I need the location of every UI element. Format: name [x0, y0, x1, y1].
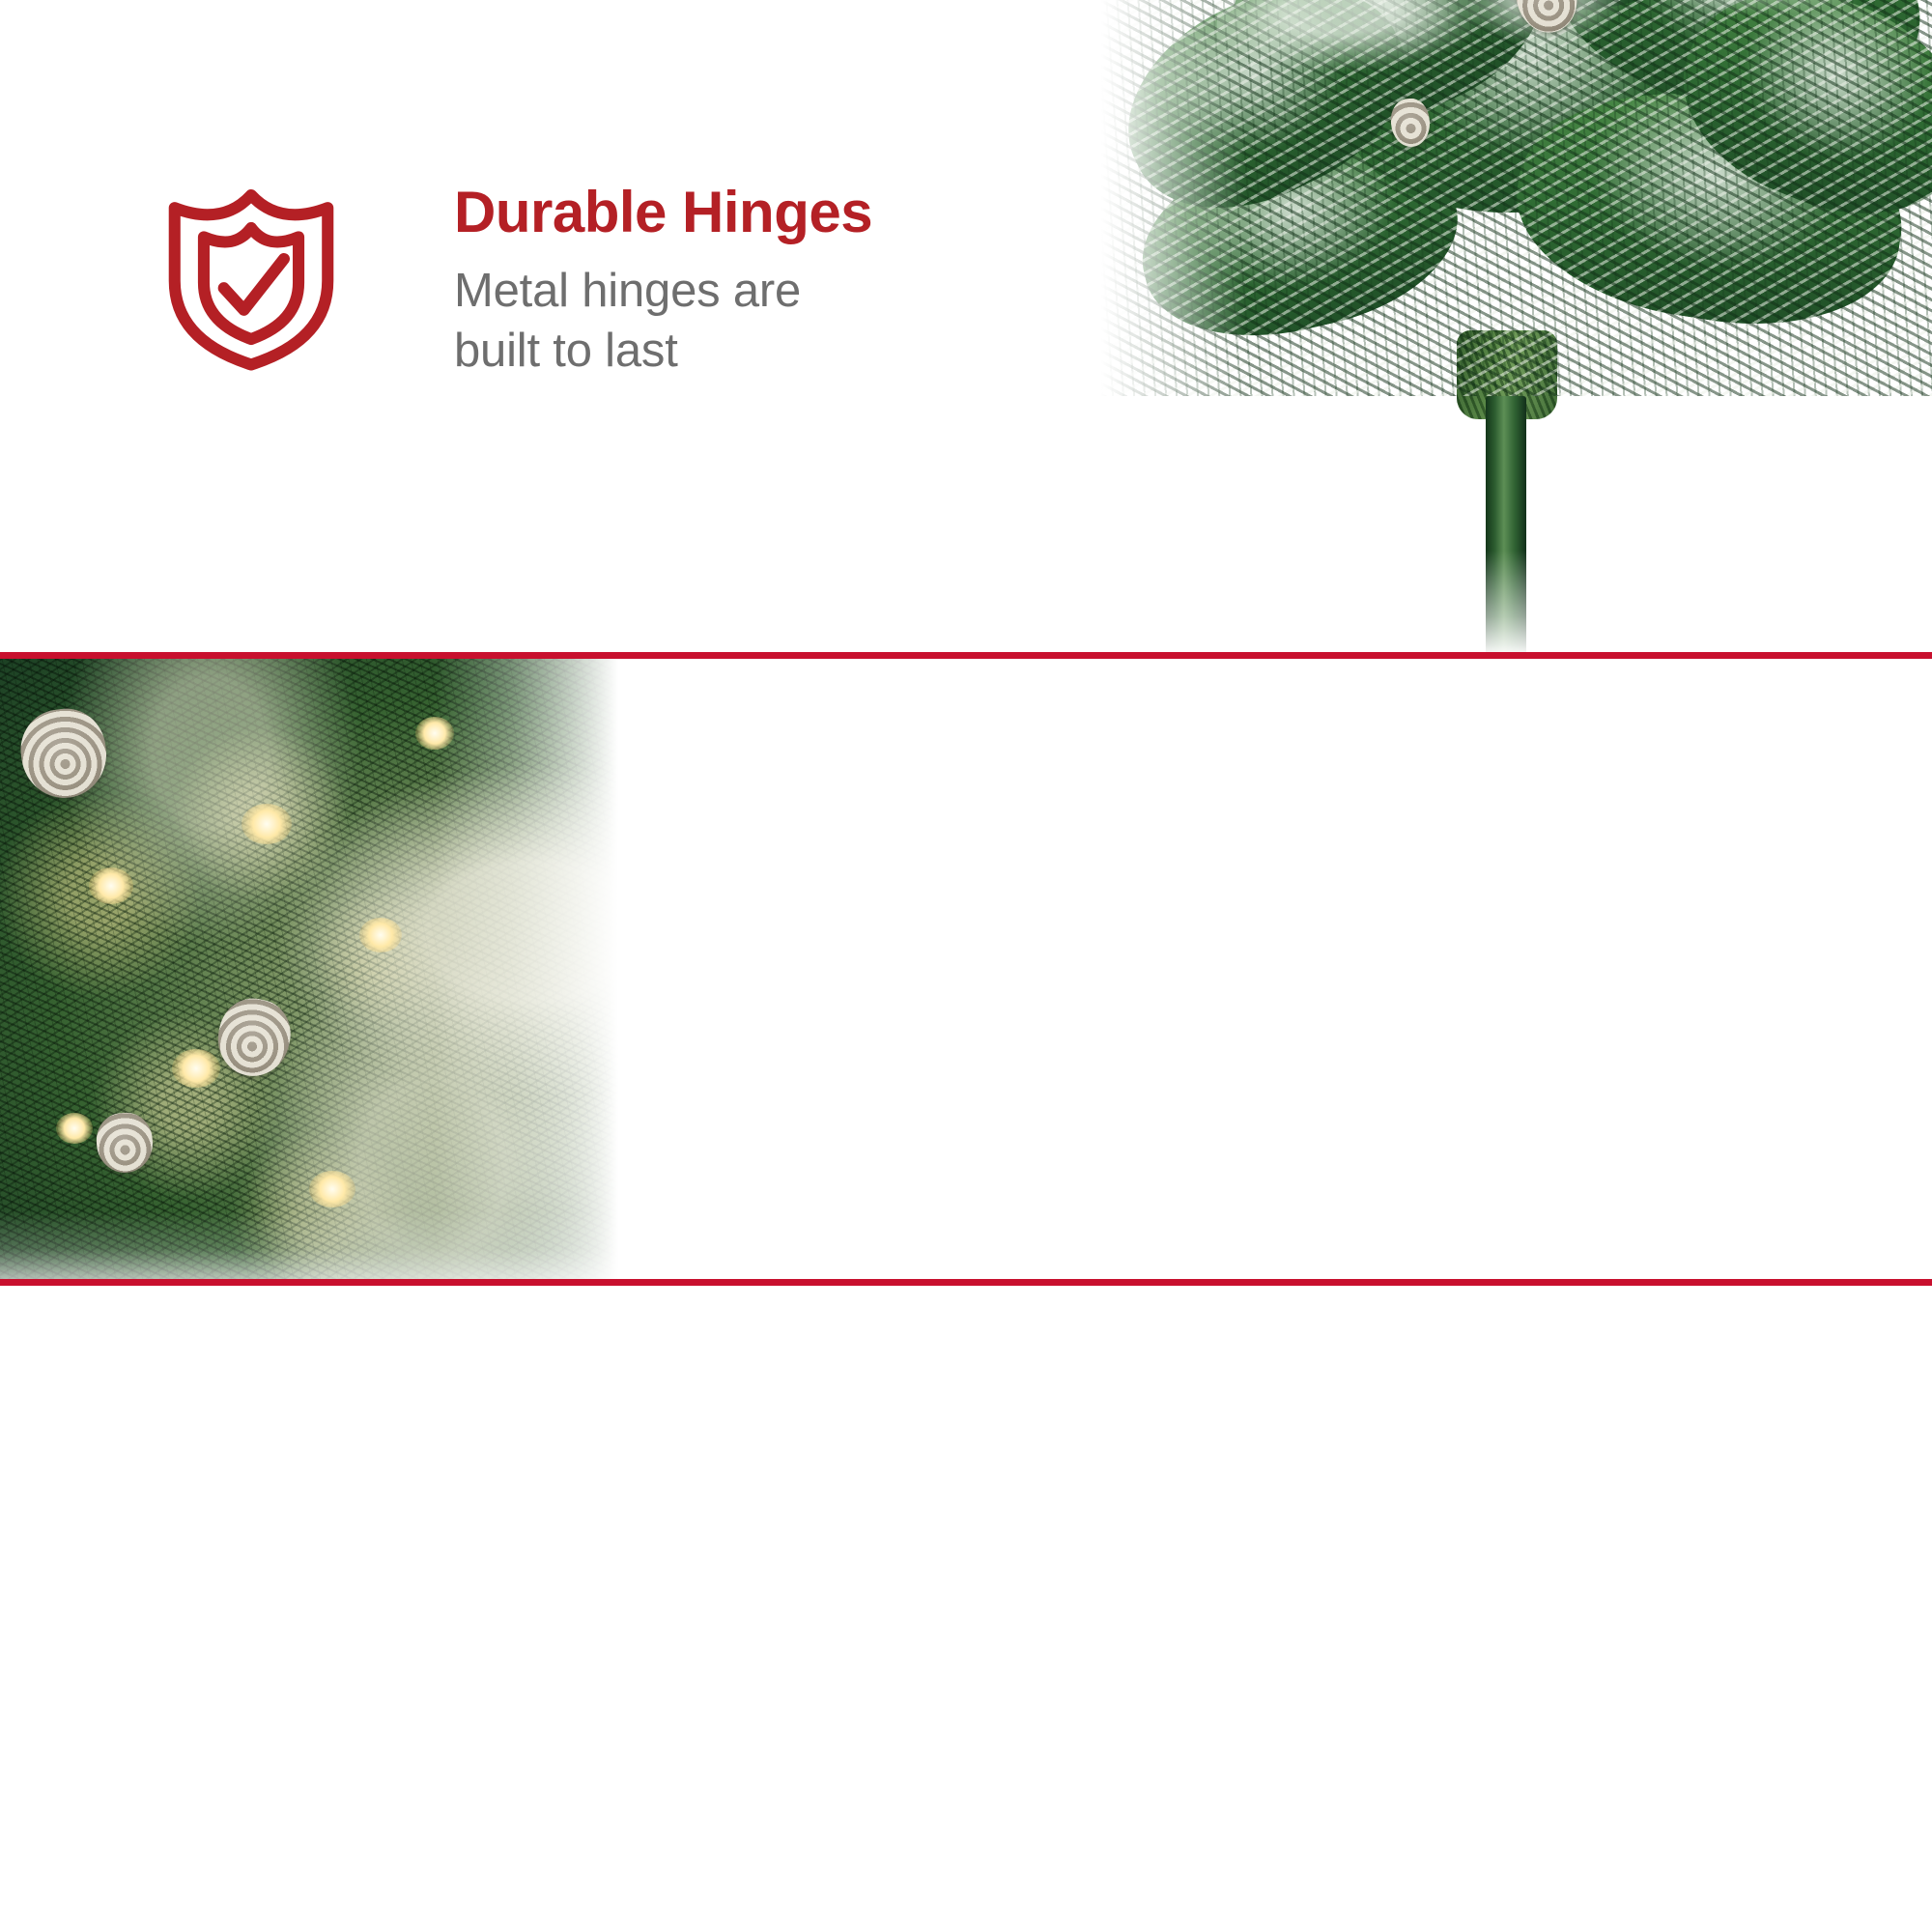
feature-subtitle: Metal hinges are built to last — [454, 261, 872, 382]
photo-prelit-branches — [0, 659, 618, 1279]
feature-text-durable-hinges: Durable Hinges Metal hinges are built to… — [454, 182, 872, 382]
photo-edge-fade — [435, 659, 618, 1279]
feature-panel-pvc-branches: PVC Branches Flame-retardant for safety … — [0, 659, 1932, 1279]
photo-frosted-tree-top — [1101, 0, 1932, 653]
feature-title: Durable Hinges — [454, 182, 872, 243]
feature-subtitle-line: Metal hinges are — [454, 261, 872, 322]
section-divider — [0, 652, 1932, 659]
product-feature-infographic: Durable Hinges Metal hinges are built to… — [0, 0, 1932, 1932]
shield-check-icon — [159, 179, 343, 372]
feature-subtitle-line: built to last — [454, 321, 872, 382]
feature-panel-durable-hinges: Durable Hinges Metal hinges are built to… — [0, 0, 1932, 653]
feature-panel-sturdy-base: Sturdy Base A reliable stand for your tr… — [0, 1285, 1932, 1932]
photo-bottom-fade — [0, 1211, 618, 1279]
section-divider — [0, 1279, 1932, 1286]
